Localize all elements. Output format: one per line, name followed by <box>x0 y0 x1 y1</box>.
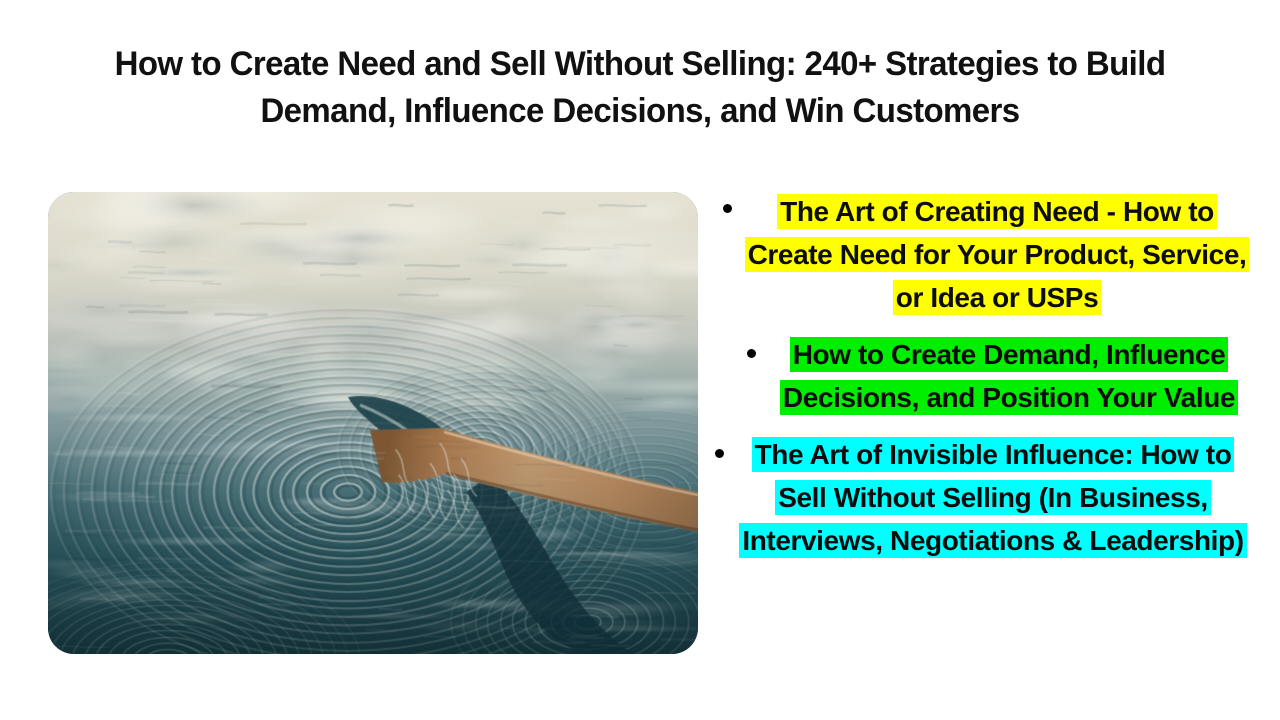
bullet-item-2-text: How to Create Demand, Influence Decision… <box>762 333 1256 419</box>
list-item: The Art of Creating Need - How to Create… <box>716 190 1256 319</box>
hero-image <box>48 192 698 654</box>
bullet-dot-icon <box>716 190 738 213</box>
bullet-dot-icon <box>740 333 762 358</box>
bullet-item-3-text: The Art of Invisible Influence: How to S… <box>730 433 1256 562</box>
highlight-green: How to Create Demand, Influence Decision… <box>780 337 1238 415</box>
list-item: The Art of Invisible Influence: How to S… <box>708 433 1256 562</box>
bullet-item-1-text: The Art of Creating Need - How to Create… <box>738 190 1256 319</box>
page-title: How to Create Need and Sell Without Sell… <box>81 41 1198 135</box>
highlight-cyan: The Art of Invisible Influence: How to S… <box>739 437 1246 558</box>
highlight-yellow: The Art of Creating Need - How to Create… <box>745 194 1250 315</box>
bullet-dot-icon <box>708 433 730 458</box>
list-item: How to Create Demand, Influence Decision… <box>740 333 1256 419</box>
water-oar-photo <box>48 192 698 654</box>
bullet-list: The Art of Creating Need - How to Create… <box>716 190 1256 576</box>
